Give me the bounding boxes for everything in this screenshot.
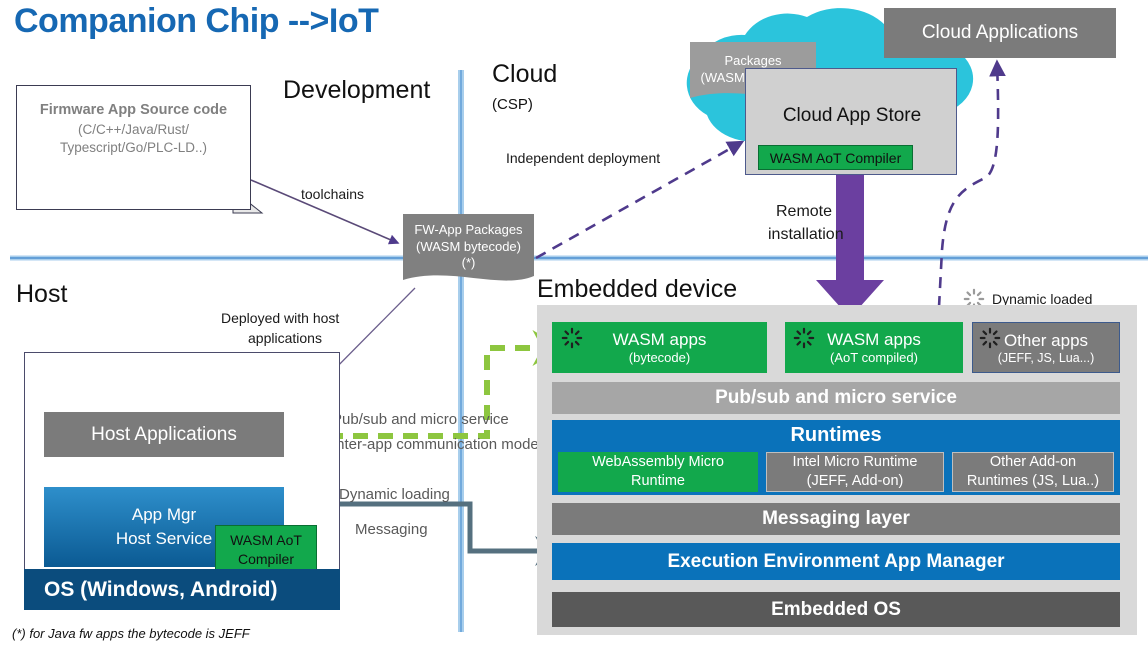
embedded-os: Embedded OS [552,592,1120,627]
fw-packages-line-1: FW-App Packages [414,222,522,239]
runtime-2-line-2: Runtimes (JS, Lua..) [967,472,1099,491]
spinner-icon-2 [979,327,1001,349]
fw-packages-line-2: (WASM bytecode) [416,239,521,256]
cloud-applications-box: Cloud Applications [884,8,1116,58]
remote-installation-arrow [816,172,884,318]
app-mgr-label: App Mgr [132,505,196,524]
label-pubsub-2: Inter-app communication models [332,436,550,453]
footnote: (*) for Java fw apps the bytecode is JEF… [12,626,250,641]
host-wasm-aot-compiler[interactable]: WASM AoT Compiler [215,525,317,575]
host-aot-line-1: WASM AoT [230,531,302,550]
source-line-2: Typescript/Go/PLC-LD..) [17,139,250,157]
spinner-icon-1 [793,327,815,349]
section-embedded-device: Embedded device [537,275,737,304]
runtime-1-line-2: (JEFF, Add-on) [807,472,904,491]
embedded-app-0-sub: (bytecode) [629,350,690,365]
page-title: Companion Chip -->IoT [14,2,378,41]
embedded-app-1-name: WASM apps [827,330,921,350]
embedded-runtime-0[interactable]: WebAssembly Micro Runtime [558,452,758,492]
runtime-1-line-1: Intel Micro Runtime [793,453,918,472]
label-independent-deployment: Independent deployment [506,150,660,166]
section-host: Host [16,280,67,309]
label-messaging: Messaging [355,521,428,538]
diagram-canvas: Companion Chip -->IoT Firmware App Sourc… [0,0,1148,653]
host-service-label: Host Service [116,527,212,551]
firmware-source-box: Firmware App Source code (C/C++/Java/Rus… [16,85,251,210]
host-aot-line-2: Compiler [238,550,294,569]
embedded-runtime-2[interactable]: Other Add-on Runtimes (JS, Lua..) [952,452,1114,492]
section-development: Development [283,76,430,105]
source-line-1: (C/C++/Java/Rust/ [17,121,250,139]
host-os-box: OS (Windows, Android) [24,569,340,610]
embedded-app-1-sub: (AoT compiled) [830,350,918,365]
embedded-app-2-name: Other apps [1004,331,1088,351]
label-dynamic-loading: Dynamic loading [339,486,450,503]
spinner-icon-0 [561,327,583,349]
embedded-app-0[interactable]: WASM apps (bytecode) [552,322,767,373]
cloud-compiler-label: WASM AoT Compiler [770,150,901,166]
source-heading: Firmware App Source code [17,101,250,121]
runtimes-title: Runtimes [790,424,881,447]
label-deployed-2: applications [248,330,322,346]
section-cloud-sub: (CSP) [492,96,533,113]
label-pubsub-1: Pub/sub and micro service [332,411,509,428]
runtime-2-line-1: Other Add-on [990,453,1076,472]
embedded-app-0-name: WASM apps [613,330,707,350]
label-remote-1: Remote [776,203,832,221]
host-applications-box: Host Applications [44,412,284,457]
runtime-0-line-2: Runtime [631,472,685,491]
embedded-app-2-sub: (JEFF, JS, Lua...) [998,351,1095,365]
runtime-0-line-1: WebAssembly Micro [592,453,724,472]
cloud-wasm-aot-compiler[interactable]: WASM AoT Compiler [758,145,913,170]
label-deployed-1: Deployed with host [221,310,339,326]
section-cloud: Cloud [492,60,557,89]
embedded-messaging-layer: Messaging layer [552,503,1120,535]
label-toolchains: toolchains [301,186,364,202]
label-remote-2: installation [768,226,844,244]
fw-app-packages-callout: FW-App Packages (WASM bytecode) (*) [403,216,534,278]
embedded-app-manager: Execution Environment App Manager [552,543,1120,580]
embedded-pubsub-layer: Pub/sub and micro service [552,382,1120,414]
fw-packages-line-3: (*) [462,255,476,272]
cloud-app-store-title: Cloud App Store [746,105,958,127]
embedded-runtime-1[interactable]: Intel Micro Runtime (JEFF, Add-on) [766,452,944,492]
